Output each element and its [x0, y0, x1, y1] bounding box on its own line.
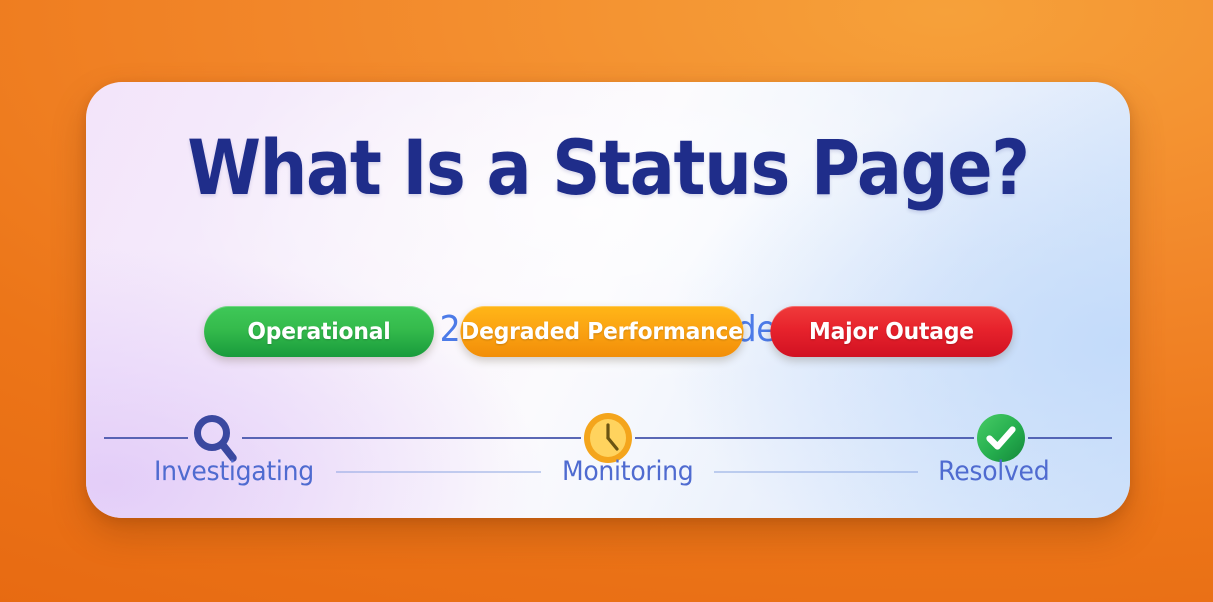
status-badge-major-outage[interactable]: Major Outage	[770, 306, 1012, 357]
hero-card: What Is a Status Page? 2026 Practical Gu…	[86, 82, 1130, 518]
timeline-label-investigating: Investigating	[154, 456, 314, 487]
page-title: What Is a Status Page?	[149, 130, 1068, 206]
timeline-label-resolved: Resolved	[939, 456, 1050, 487]
status-badge-operational[interactable]: Operational	[204, 306, 434, 357]
status-badge-operational-label: Operational	[247, 319, 390, 345]
timeline-labels: Investigating Monitoring Resolved	[86, 456, 1130, 487]
label-connector-2	[714, 471, 919, 473]
status-badge-major-outage-label: Major Outage	[809, 319, 974, 345]
timeline-segment-end	[1028, 437, 1112, 439]
timeline-segment-start	[104, 437, 188, 439]
timeline-segment-2	[635, 437, 974, 439]
timeline-segment-1	[242, 437, 581, 439]
status-badge-degraded-performance[interactable]: Degraded Performance	[460, 306, 743, 357]
status-badge-degraded-performance-label: Degraded Performance	[461, 319, 743, 345]
card-inner: What Is a Status Page? 2026 Practical Gu…	[86, 82, 1130, 518]
incident-timeline: Investigating Monitoring Resolved	[86, 382, 1130, 492]
status-badge-group: Operational Degraded Performance Major O…	[86, 306, 1130, 357]
label-connector-1	[336, 471, 541, 473]
timeline-label-monitoring: Monitoring	[561, 456, 692, 487]
